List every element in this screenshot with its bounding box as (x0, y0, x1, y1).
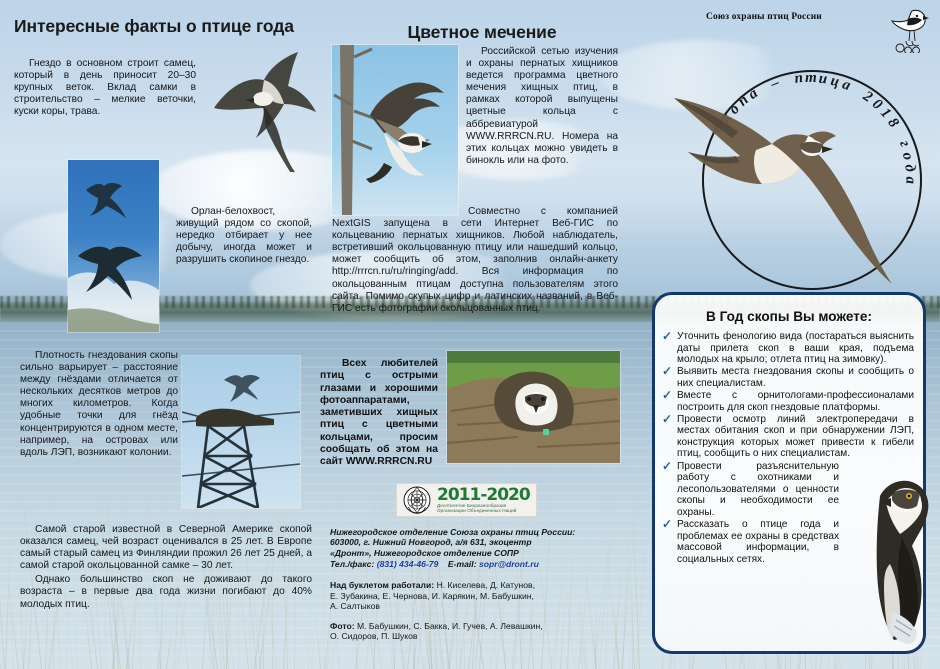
credits-authors-names-1: Н. Киселева, Д. Катунов, (437, 580, 535, 590)
check-mark-icon: ✓ (662, 461, 673, 519)
contacts-line-1: Нижегородское отделение Союза охраны пти… (330, 527, 630, 537)
photo-perched-osprey-with-fish (846, 468, 940, 648)
check-mark-icon: ✓ (662, 519, 673, 565)
contacts-line-3: «Дронт», Нижегородское отделение СОПР (330, 548, 630, 558)
decade-subtitle-2: Организации Объединенных Наций (437, 508, 530, 513)
osprey-in-flight-icon (206, 42, 326, 172)
bird-logo-icon (888, 3, 932, 53)
contacts-line-2: 603000, г. Нижний Новгород, а/я 631, эко… (330, 537, 630, 547)
phone-label: Тел./факс: (330, 559, 374, 569)
contacts-block: Нижегородское отделение Союза охраны пти… (330, 527, 630, 570)
credits-photo-line-2: О. Сидоров, П. Шуков (330, 631, 630, 642)
phone-value[interactable]: (831) 434-46-79 (377, 559, 439, 569)
nest-on-pylon-icon (182, 356, 300, 508)
callout-text: Всех любителей птиц с острыми глазами и … (320, 358, 438, 469)
email-label: E-mail: (448, 559, 477, 569)
action-item: ✓Выявить места гнездования скопы и сообщ… (655, 366, 923, 389)
middle-column-heading-wrap: Цветное мечение (332, 22, 632, 43)
action-item: ✓Вместе с орнитологами-профессионалами п… (655, 390, 923, 413)
photo-two-birds-sky (68, 160, 159, 332)
action-item-text: Рассказать о птице года и проблемах ее о… (677, 519, 839, 565)
left-paragraph-4-wrap: Самой старой известной в Северной Америк… (20, 524, 312, 611)
left-column-heading: Интересные факты о птице года (14, 16, 314, 37)
osprey-on-pole-icon (332, 45, 458, 215)
credits-authors-line-1: Над буклетом работали: Н. Киселева, Д. К… (330, 580, 630, 591)
action-panel-title: В Год скопы Вы можете: (655, 309, 923, 324)
middle-column-heading: Цветное мечение (332, 22, 632, 43)
un-decade-logo: 2011-2020 Десятилетие Биоразнообразия Ор… (396, 483, 537, 517)
photo-nest-on-pylon (182, 356, 300, 508)
left-paragraph-1-wrap: Гнездо в основном строит самец, который … (14, 58, 196, 118)
middle-paragraph-2: Совместно с компанией NextGIS запущена в… (332, 206, 618, 315)
check-mark-icon: ✓ (662, 390, 673, 413)
credits-spacer (330, 612, 630, 621)
action-item-text: Выявить места гнездования скопы и сообщи… (677, 366, 914, 389)
organization-name: Союз охраны птиц России (706, 12, 822, 22)
middle-paragraph-2-wrap: Совместно с компанией NextGIS запущена в… (332, 206, 618, 315)
callout-report-to-site: Всех любителей птиц с острыми глазами и … (320, 358, 438, 469)
middle-paragraph-1: Российской сетью изучения и охраны перна… (466, 46, 618, 167)
action-item-text: Уточнить фенологию вида (постараться выя… (677, 331, 914, 366)
un-emblem-icon (403, 486, 431, 514)
photo-osprey-in-flight (206, 42, 326, 172)
photo-osprey-on-pole (332, 45, 458, 215)
two-birds-sky-icon (68, 160, 159, 332)
credits-authors-line-2: Е. Зубакина, Е. Чернова, И. Карякин, М. … (330, 591, 630, 602)
left-paragraph-3: Плотность гнездования скопы сильно варьи… (20, 350, 178, 459)
credits-photo-label: Фото: (330, 621, 355, 631)
credits-photo-line-1: Фото: М. Бабушкин, С. Бакка, И. Гучев, А… (330, 621, 630, 632)
contacts-phone-email: Тел./факс: (831) 434-46-79 E-mail: sopr@… (330, 559, 630, 569)
left-paragraph-4: Самой старой известной в Северной Америк… (20, 524, 312, 572)
left-paragraph-5: Однако большинство скоп не доживают до т… (20, 574, 312, 610)
email-value[interactable]: sopr@dront.ru (479, 559, 539, 569)
action-item-text: Вместе с орнитологами-профессионалами по… (677, 390, 914, 413)
photo-osprey-chick-nest (447, 351, 620, 463)
credits-authors-line-3: А. Салтыков (330, 601, 630, 612)
action-item: ✓Уточнить фенологию вида (постараться вы… (655, 331, 923, 366)
check-mark-icon: ✓ (662, 331, 673, 366)
action-item: ✓Провести осмотр линий электропередачи в… (655, 414, 923, 460)
left-paragraph-2-wrap: Орлан-белохвост, живущий рядом со скопой… (176, 206, 312, 266)
action-item-text: Провести осмотр линий электропередачи в … (677, 414, 914, 460)
decade-years: 2011-2020 (437, 487, 530, 503)
middle-paragraph-1-wrap: Российской сетью изучения и охраны перна… (466, 46, 618, 167)
check-mark-icon: ✓ (662, 414, 673, 460)
left-paragraph-2: Орлан-белохвост, живущий рядом со скопой… (176, 206, 312, 266)
credits-authors-label: Над буклетом работали: (330, 580, 434, 590)
decade-logo-text: 2011-2020 Десятилетие Биоразнообразия Ор… (437, 487, 530, 514)
credits-photo-names-1: М. Бабушкин, С. Бакка, И. Гучев, А. Лева… (357, 621, 543, 631)
credits-block: Над буклетом работали: Н. Киселева, Д. К… (330, 580, 630, 642)
osprey-chick-nest-icon (447, 351, 620, 463)
left-paragraph-1: Гнездо в основном строит самец, который … (14, 58, 196, 118)
check-mark-icon: ✓ (662, 366, 673, 389)
left-paragraph-3-wrap: Плотность гнездования скопы сильно варьи… (20, 350, 178, 459)
action-item-text: Провести разъяснительную работу с охотни… (677, 461, 839, 519)
osprey-soaring-icon (668, 60, 918, 290)
left-column: Интересные факты о птице года (14, 16, 314, 37)
